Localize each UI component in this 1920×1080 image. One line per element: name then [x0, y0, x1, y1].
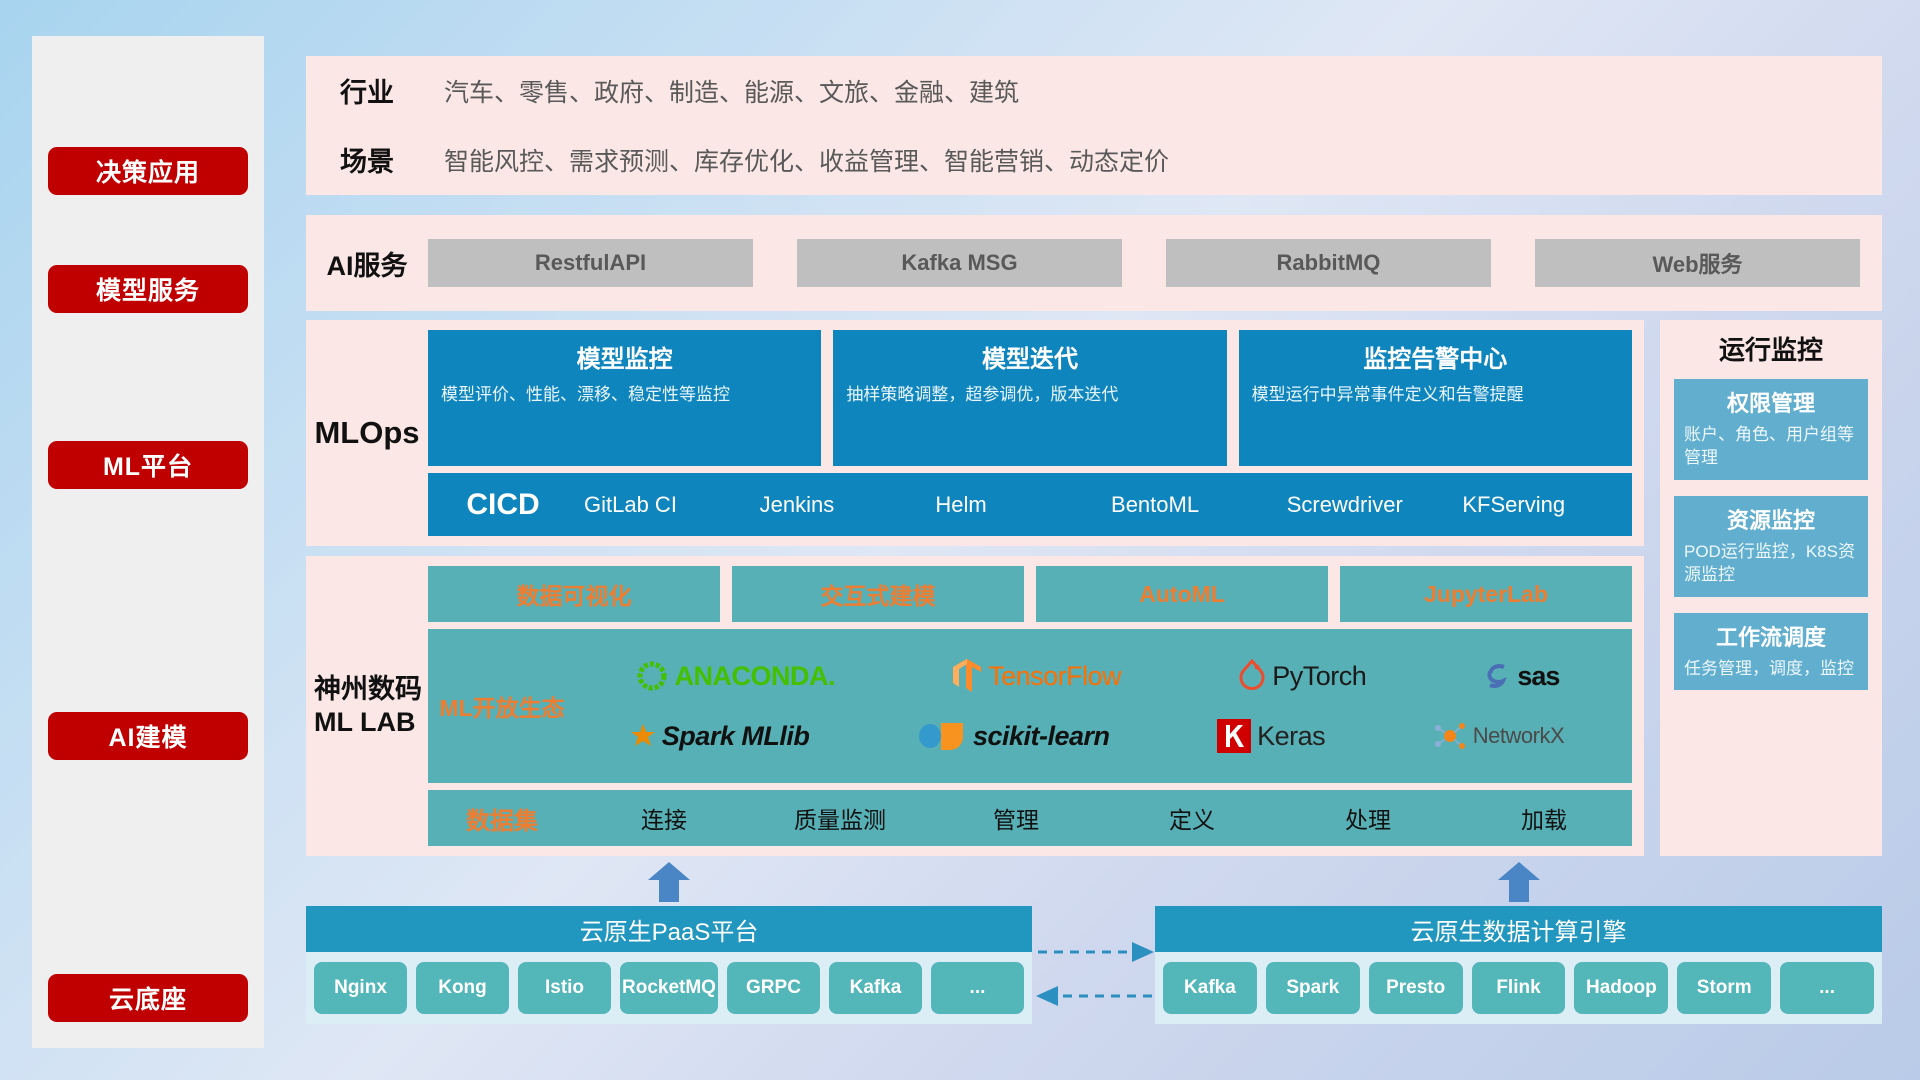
sidebar-item-ml-platform[interactable]: ML平台 [48, 441, 248, 489]
ml-tool-row: 数据可视化 交互式建模 AutoML JupyterLab [428, 566, 1632, 622]
tensorflow-wordmark: TensorFlow [988, 661, 1121, 692]
ml-ecosystem-label: ML开放生态 [428, 689, 576, 723]
pytorch-logo: PyTorch [1238, 659, 1366, 693]
engine-chip-hadoop[interactable]: Hadoop [1574, 962, 1668, 1014]
keras-logo: Keras [1217, 719, 1325, 753]
spark-mllib-logo: Spark MLlib [630, 721, 810, 752]
paas-chip-rocketmq[interactable]: RocketMQ [620, 962, 718, 1014]
logo-line-1: ANACONDA. TensorFlow [576, 648, 1618, 704]
up-arrow-paas-icon [648, 862, 690, 902]
sas-logo: sas [1483, 661, 1559, 692]
ml-lab-label: 神州数码 ML LAB [306, 556, 428, 856]
scikit-learn-wordmark: scikit-learn [973, 721, 1110, 752]
card-title: 监控告警中心 [1252, 339, 1619, 374]
paas-chip-kong[interactable]: Kong [416, 962, 509, 1014]
scenario-row: 场景 智能风控、需求预测、库存优化、收益管理、智能营销、动态定价 [306, 125, 1882, 194]
sidebar-item-label: 模型服务 [96, 271, 200, 307]
monitor-card-workflow[interactable]: 工作流调度 任务管理，调度，监控 [1674, 613, 1868, 690]
scikit-learn-icon [917, 719, 967, 753]
engine-chip-spark[interactable]: Spark [1266, 962, 1360, 1014]
cloud-native-compute-engine-block: 云原生数据计算引擎 Kafka Spark Presto Flink Hadoo… [1155, 906, 1882, 1024]
dataset-label: 数据集 [428, 801, 576, 836]
ai-service-items: RestfulAPI Kafka MSG RabbitMQ Web服务 [428, 239, 1882, 287]
cloud-native-paas-block: 云原生PaaS平台 Nginx Kong Istio RocketMQ GRPC… [306, 906, 1032, 1024]
ml-ecosystem-logos: ANACONDA. TensorFlow [576, 648, 1632, 764]
logo-line-2: Spark MLlib scikit-learn [576, 708, 1618, 764]
tool-box-data-visualization[interactable]: 数据可视化 [428, 566, 720, 622]
monitor-panel-title: 运行监控 [1674, 330, 1868, 367]
card-title: 资源监控 [1684, 503, 1858, 535]
dataset-item-process[interactable]: 处理 [1280, 801, 1456, 835]
mlops-card-alert-center[interactable]: 监控告警中心 模型运行中异常事件定义和告警提醒 [1239, 330, 1632, 466]
engine-chip-more[interactable]: ... [1780, 962, 1874, 1014]
mlops-card-model-iteration[interactable]: 模型迭代 抽样策略调整，超参调优，版本迭代 [833, 330, 1226, 466]
card-description: 任务管理，调度，监控 [1684, 657, 1858, 680]
card-title: 模型迭代 [846, 339, 1213, 374]
sidebar-item-label: 云底座 [109, 980, 187, 1016]
sidebar-item-label: 决策应用 [96, 153, 200, 189]
compute-engine-title: 云原生数据计算引擎 [1155, 906, 1882, 952]
dataset-item-quality-monitor[interactable]: 质量监测 [752, 801, 928, 835]
card-description: POD运行监控，K8S资源监控 [1684, 540, 1858, 587]
ai-service-band: AI服务 RestfulAPI Kafka MSG RabbitMQ Web服务 [306, 215, 1882, 311]
sidebar-item-decision-app[interactable]: 决策应用 [48, 147, 248, 195]
paas-chip-istio[interactable]: Istio [518, 962, 611, 1014]
ml-lab-band: 神州数码 ML LAB 数据可视化 交互式建模 AutoML JupyterLa… [306, 556, 1644, 856]
anaconda-icon [635, 659, 669, 693]
sidebar-item-cloud-base[interactable]: 云底座 [48, 974, 248, 1022]
industry-values: 汽车、零售、政府、制造、能源、文旅、金融、建筑 [428, 73, 1019, 109]
scenario-values: 智能风控、需求预测、库存优化、收益管理、智能营销、动态定价 [428, 142, 1169, 178]
card-description: 抽样策略调整，超参调优，版本迭代 [846, 383, 1213, 407]
sas-wordmark: sas [1517, 661, 1559, 692]
service-box-web-service[interactable]: Web服务 [1535, 239, 1860, 287]
sidebar-item-model-service[interactable]: 模型服务 [48, 265, 248, 313]
tensorflow-icon [952, 658, 982, 694]
scikit-learn-logo: scikit-learn [917, 719, 1110, 753]
service-box-rabbitmq[interactable]: RabbitMQ [1166, 239, 1491, 287]
anaconda-wordmark: ANACONDA. [675, 661, 836, 692]
ml-lab-label-line2: ML LAB [314, 706, 422, 739]
pytorch-icon [1238, 659, 1266, 693]
tool-box-automl[interactable]: AutoML [1036, 566, 1328, 622]
industry-label: 行业 [306, 71, 428, 110]
monitor-card-permission[interactable]: 权限管理 账户、角色、用户组等管理 [1674, 379, 1868, 480]
dataset-item-load[interactable]: 加载 [1456, 801, 1632, 835]
tool-box-jupyterlab[interactable]: JupyterLab [1340, 566, 1632, 622]
up-arrow-compute-engine-icon [1498, 862, 1540, 902]
pytorch-wordmark: PyTorch [1272, 661, 1366, 692]
paas-chip-grpc[interactable]: GRPC [727, 962, 820, 1014]
engine-chip-storm[interactable]: Storm [1677, 962, 1771, 1014]
tensorflow-logo: TensorFlow [952, 658, 1121, 694]
dataset-item-define[interactable]: 定义 [1104, 801, 1280, 835]
engine-chip-kafka[interactable]: Kafka [1163, 962, 1257, 1014]
dataset-item-manage[interactable]: 管理 [928, 801, 1104, 835]
cicd-item-gitlab-ci[interactable]: GitLab CI [578, 493, 754, 516]
bidirectional-link-arrows [1036, 938, 1154, 1010]
keras-wordmark: Keras [1257, 721, 1325, 752]
cicd-item-helm[interactable]: Helm [929, 493, 1105, 516]
ml-lab-label-line1: 神州数码 [314, 673, 422, 706]
paas-title: 云原生PaaS平台 [306, 906, 1032, 952]
keras-icon [1217, 719, 1251, 753]
engine-chip-presto[interactable]: Presto [1369, 962, 1463, 1014]
networkx-logo: NetworkX [1433, 720, 1564, 752]
card-description: 模型评价、性能、漂移、稳定性等监控 [441, 383, 808, 407]
spark-star-icon [630, 723, 656, 749]
dataset-row: 数据集 连接 质量监测 管理 定义 处理 加载 [428, 790, 1632, 846]
cicd-item-bentoml[interactable]: BentoML [1105, 493, 1281, 516]
card-title: 模型监控 [441, 339, 808, 374]
anaconda-logo: ANACONDA. [635, 659, 836, 693]
mlops-label: MLOps [306, 320, 428, 546]
networkx-wordmark: NetworkX [1473, 723, 1564, 749]
paas-chip-kafka[interactable]: Kafka [829, 962, 922, 1014]
service-box-restfulapi[interactable]: RestfulAPI [428, 239, 753, 287]
scenario-label: 场景 [306, 140, 428, 179]
left-layer-rail: 决策应用 模型服务 ML平台 AI建模 云底座 [32, 36, 264, 1048]
card-title: 工作流调度 [1684, 620, 1858, 652]
card-description: 账户、角色、用户组等管理 [1684, 423, 1858, 470]
sas-icon [1483, 661, 1511, 691]
cicd-bar: CICD GitLab CI Jenkins Helm BentoML Scre… [428, 473, 1632, 536]
paas-chip-list: Nginx Kong Istio RocketMQ GRPC Kafka ... [306, 952, 1032, 1024]
ai-service-label: AI服务 [306, 244, 428, 283]
service-box-kafka-msg[interactable]: Kafka MSG [797, 239, 1122, 287]
spark-mllib-wordmark: Spark MLlib [662, 721, 810, 752]
engine-chip-flink[interactable]: Flink [1472, 962, 1566, 1014]
mlops-content: 模型监控 模型评价、性能、漂移、稳定性等监控 模型迭代 抽样策略调整，超参调优，… [428, 320, 1644, 546]
sidebar-item-label: ML平台 [103, 447, 193, 483]
mlops-card-model-monitoring[interactable]: 模型监控 模型评价、性能、漂移、稳定性等监控 [428, 330, 821, 466]
card-title: 权限管理 [1684, 386, 1858, 418]
compute-engine-chip-list: Kafka Spark Presto Flink Hadoop Storm ..… [1155, 952, 1882, 1024]
ml-open-ecosystem-row: ML开放生态 ANACONDA. TensorFlow [428, 629, 1632, 783]
runtime-monitoring-panel: 运行监控 权限管理 账户、角色、用户组等管理 资源监控 POD运行监控，K8S资… [1660, 320, 1882, 856]
tool-box-interactive-modeling[interactable]: 交互式建模 [732, 566, 1024, 622]
card-description: 模型运行中异常事件定义和告警提醒 [1252, 383, 1619, 407]
decision-application-band: 行业 汽车、零售、政府、制造、能源、文旅、金融、建筑 场景 智能风控、需求预测、… [306, 56, 1882, 195]
ml-lab-content: 数据可视化 交互式建模 AutoML JupyterLab ML开放生态 ANA… [428, 556, 1644, 856]
cicd-label: CICD [428, 488, 578, 522]
sidebar-item-ai-modeling[interactable]: AI建模 [48, 712, 248, 760]
cicd-item-jenkins[interactable]: Jenkins [754, 493, 930, 516]
monitor-card-resource[interactable]: 资源监控 POD运行监控，K8S资源监控 [1674, 496, 1868, 597]
cicd-item-kfserving[interactable]: KFServing [1456, 493, 1632, 516]
mlops-card-list: 模型监控 模型评价、性能、漂移、稳定性等监控 模型迭代 抽样策略调整，超参调优，… [428, 330, 1632, 466]
dataset-item-connect[interactable]: 连接 [576, 801, 752, 835]
sidebar-item-label: AI建模 [108, 718, 187, 754]
cicd-item-screwdriver[interactable]: Screwdriver [1281, 493, 1457, 516]
networkx-icon [1433, 720, 1467, 752]
industry-row: 行业 汽车、零售、政府、制造、能源、文旅、金融、建筑 [306, 56, 1882, 125]
paas-chip-nginx[interactable]: Nginx [314, 962, 407, 1014]
mlops-band: MLOps 模型监控 模型评价、性能、漂移、稳定性等监控 模型迭代 抽样策略调整… [306, 320, 1644, 546]
paas-chip-more[interactable]: ... [931, 962, 1024, 1014]
